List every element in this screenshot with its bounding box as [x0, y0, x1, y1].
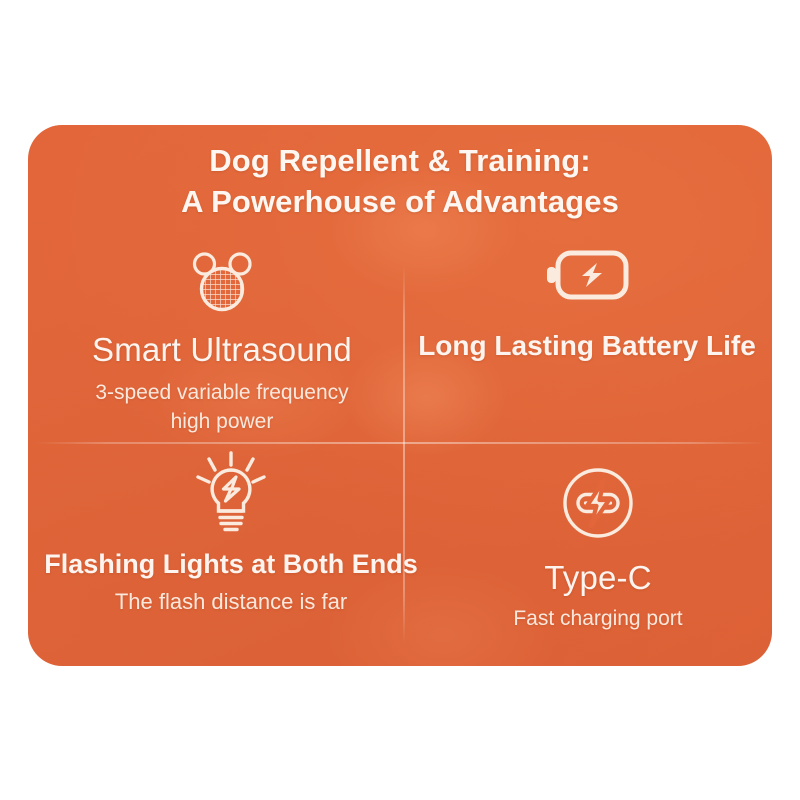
feature-subtitle-line-2: high power	[171, 410, 274, 433]
headline-line-2: A Powerhouse of Advantages	[28, 181, 772, 222]
feature-subtitle: The flash distance is far	[115, 587, 347, 616]
feature-flashing-lights: Flashing Lights at Both Ends The flash d…	[36, 451, 426, 616]
feature-smart-ultrasound: Smart Ultrasound 3-speed variable freque…	[42, 249, 402, 436]
feature-title: Flashing Lights at Both Ends	[44, 549, 418, 580]
headline-line-1: Dog Repellent & Training:	[28, 140, 772, 181]
feature-subtitle-line-1: The flash distance is far	[115, 589, 347, 614]
quadrant-divider-horizontal	[36, 442, 764, 444]
feature-highlights-card: Dog Repellent & Training: A Powerhouse o…	[28, 125, 772, 666]
lightbulb-flash-icon	[195, 451, 267, 537]
ultrasound-speaker-mouse-icon	[185, 249, 259, 315]
page-root: Dog Repellent & Training: A Powerhouse o…	[0, 0, 800, 800]
feature-title: Long Lasting Battery Life	[418, 330, 756, 362]
battery-charging-icon	[545, 249, 629, 301]
feature-title: Smart Ultrasound	[92, 331, 352, 369]
usb-type-c-charging-icon	[560, 465, 636, 541]
feature-type-c: Type-C Fast charging port	[428, 465, 768, 633]
feature-subtitle-line-1: 3-speed variable frequency	[95, 381, 348, 404]
feature-subtitle: 3-speed variable frequency high power	[95, 378, 348, 436]
feature-subtitle: Fast charging port	[513, 604, 682, 633]
feature-subtitle-line-1: Fast charging port	[513, 607, 682, 630]
card-headline: Dog Repellent & Training: A Powerhouse o…	[28, 140, 772, 222]
feature-battery-life: Long Lasting Battery Life	[407, 249, 767, 362]
feature-title: Type-C	[544, 559, 652, 597]
